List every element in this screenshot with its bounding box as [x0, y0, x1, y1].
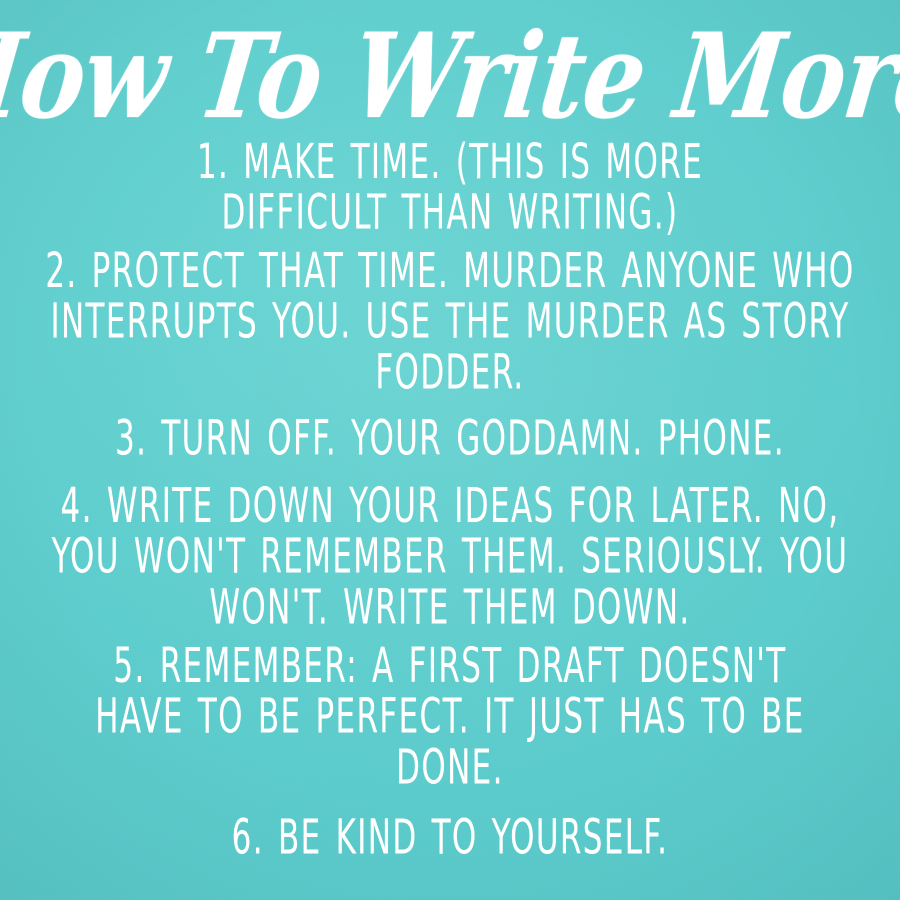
- list-item: 4. WRITE DOWN YOUR IDEAS FOR LATER. NO, …: [41, 481, 859, 634]
- list-item: 5. REMEMBER: A FIRST DRAFT DOESN'T HAVE …: [78, 640, 822, 793]
- list-item: 2. PROTECT THAT TIME. MURDER ANYONE WHO …: [36, 246, 864, 399]
- list-item: 1. MAKE TIME. (THIS IS MORE DIFFICULT TH…: [134, 136, 766, 238]
- poster-canvas: How To Write More 1. MAKE TIME. (THIS IS…: [0, 0, 900, 900]
- tips-list: 1. MAKE TIME. (THIS IS MORE DIFFICULT TH…: [0, 114, 900, 857]
- list-item: 6. BE KIND TO YOURSELF.: [125, 812, 776, 863]
- list-item: 3. TURN OFF. YOUR GODDAMN. PHONE.: [97, 413, 804, 464]
- poster-content: How To Write More 1. MAKE TIME. (THIS IS…: [0, 0, 900, 900]
- poster-title: How To Write More: [0, 18, 900, 135]
